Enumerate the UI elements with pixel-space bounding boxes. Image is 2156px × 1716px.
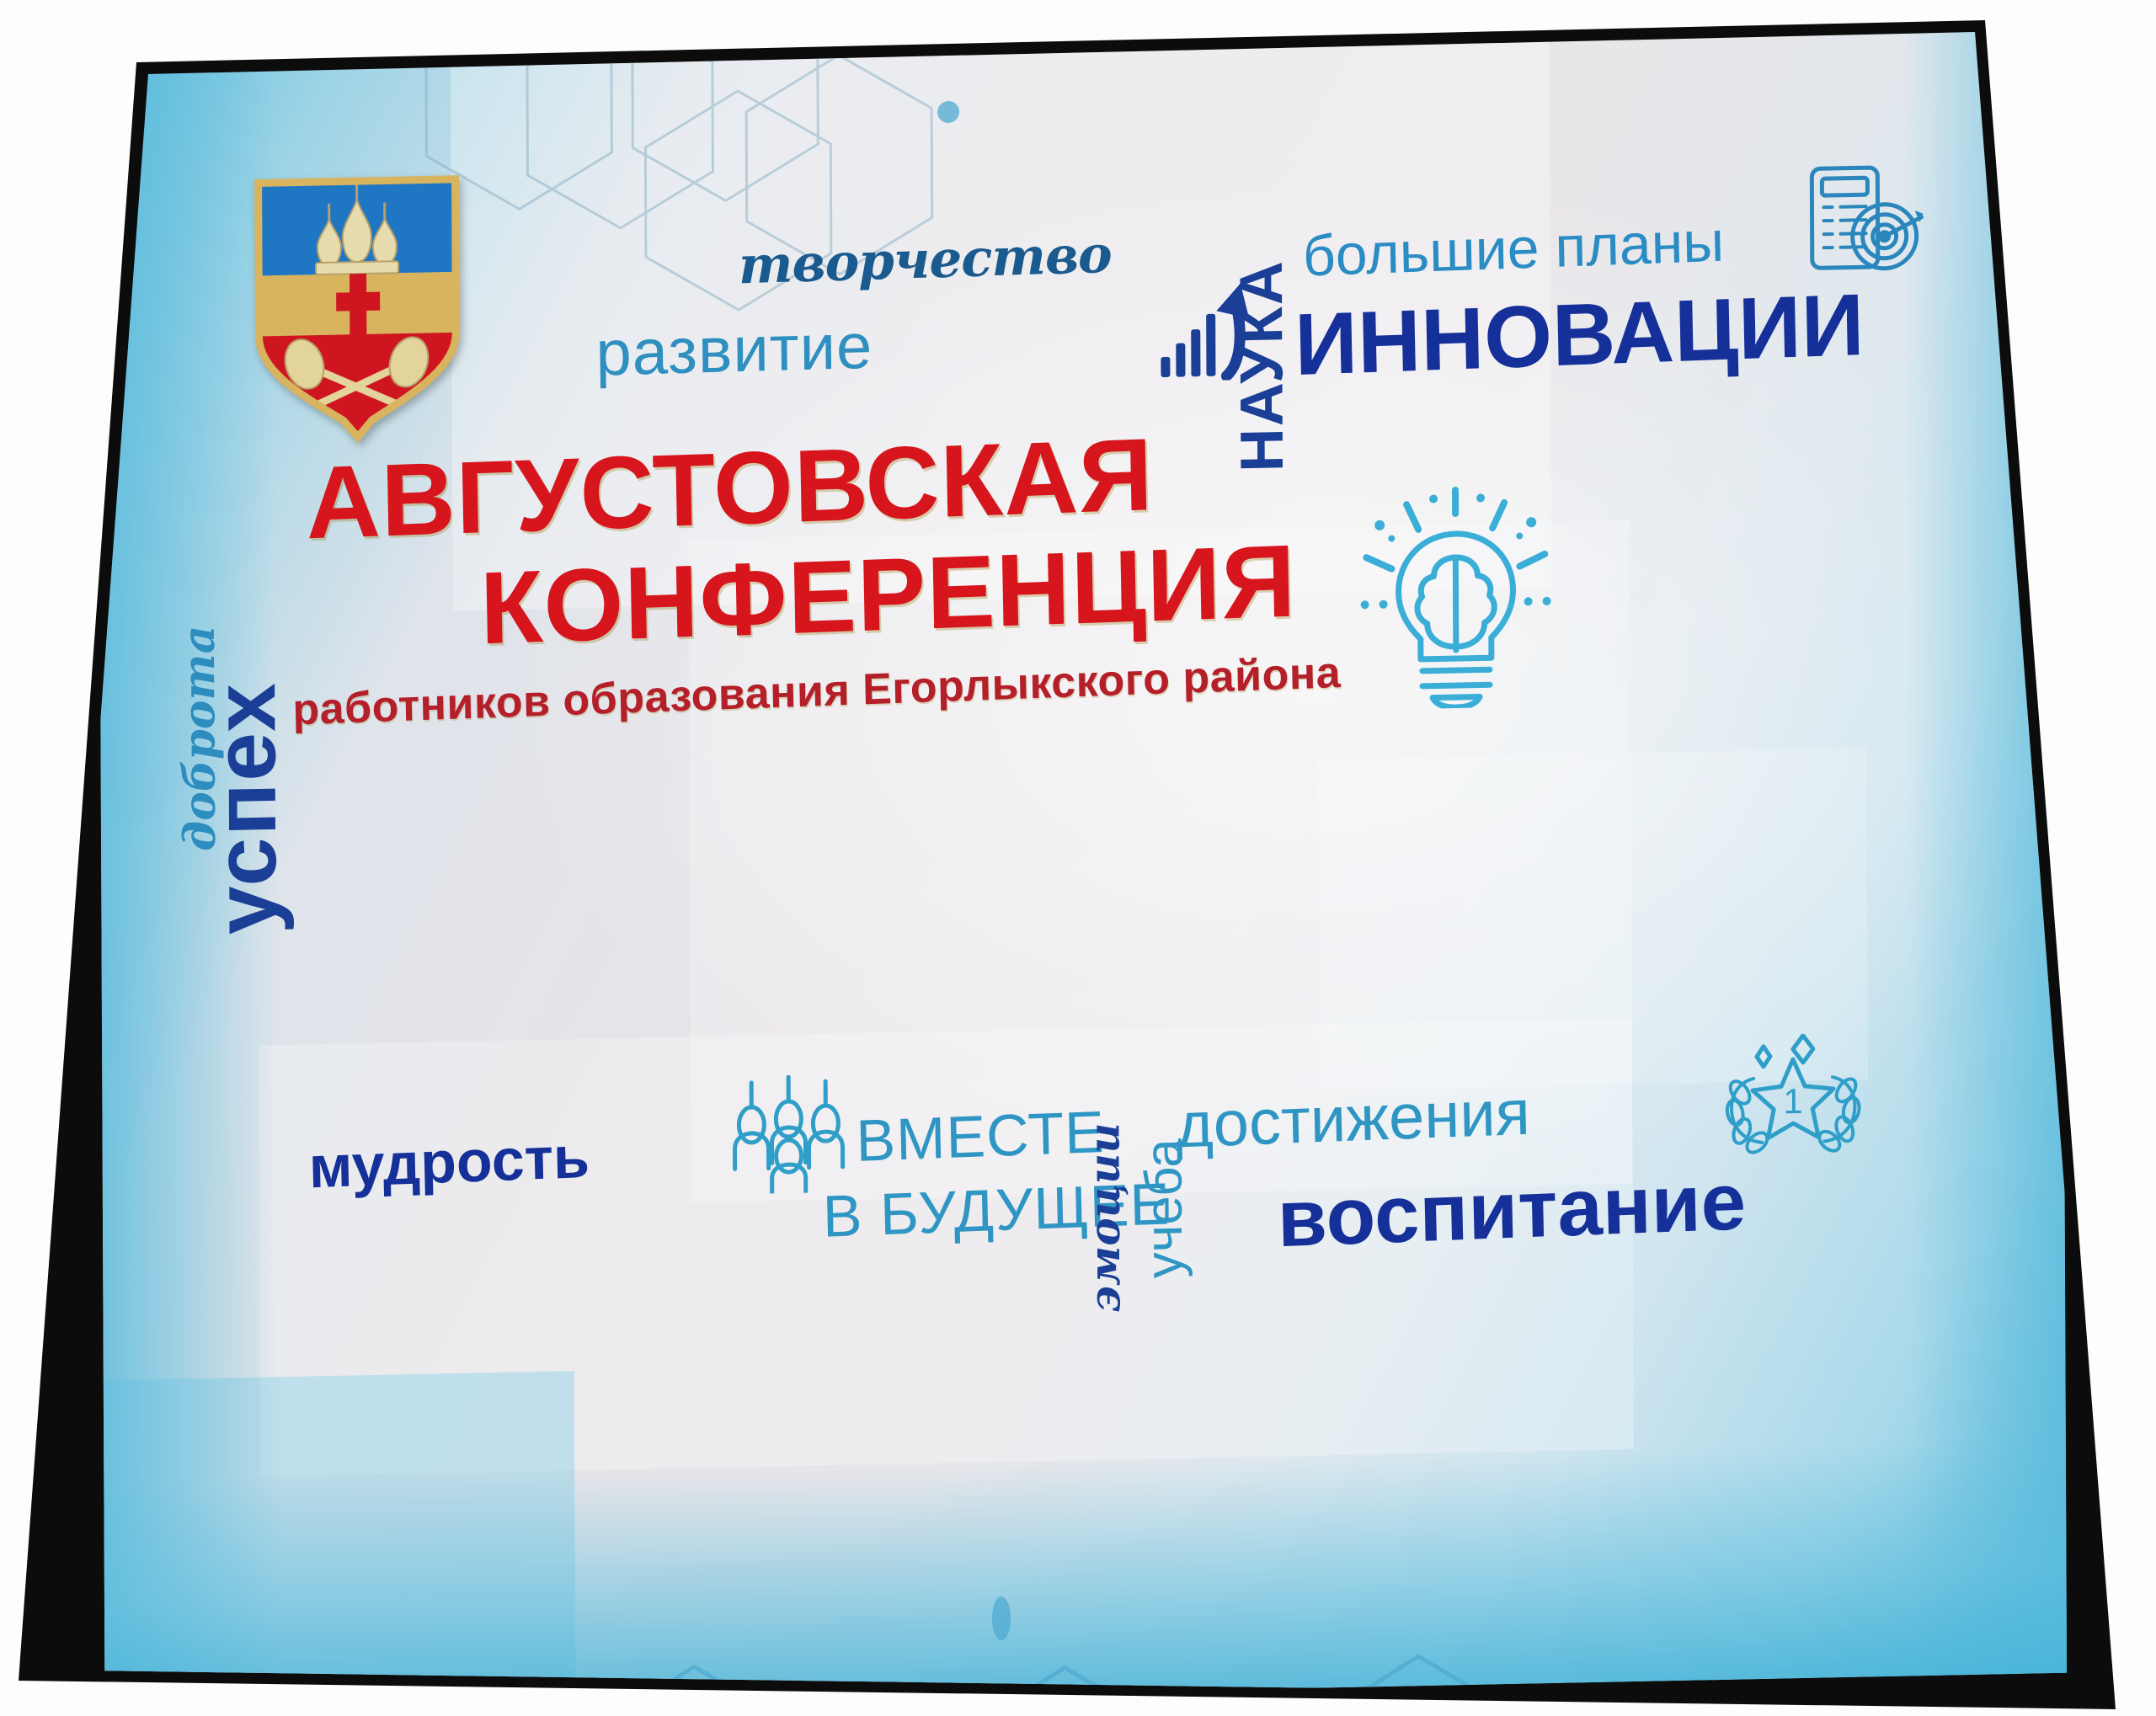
coat-of-arms-icon <box>243 172 472 445</box>
slide-title: АВГУСТОВСКАЯ КОНФЕРЕНЦИЯ <box>300 411 1398 670</box>
keyword-mudrost: мудрость <box>308 1127 590 1196</box>
laurel-star-award-icon: 1 <box>1723 1032 1863 1161</box>
keyword-bolshie-plany: большие планы <box>1302 213 1725 285</box>
keyword-dostizheniya: достижения <box>1176 1081 1531 1159</box>
presentation-slide: творчество развитие НАУКА большие <box>98 14 2067 1713</box>
clipboard-target-icon <box>1803 160 1926 289</box>
bottom-blue-band <box>104 1441 2067 1713</box>
keyword-tvorchestvo: творчество <box>739 229 1113 292</box>
photographed-screen-stage: творчество развитие НАУКА большие <box>0 0 2156 1716</box>
screen-bezel: творчество развитие НАУКА большие <box>0 0 2156 1716</box>
keyword-vmeste: ВМЕСТЕ <box>856 1102 1106 1170</box>
lightbulb-brain-icon <box>1354 483 1557 711</box>
keyword-vospitanie: воспитание <box>1277 1161 1747 1260</box>
screen-surface: творчество развитие НАУКА большие <box>0 0 2156 1716</box>
keyword-innovacii: ИННОВАЦИИ <box>1294 281 1865 389</box>
keyword-razvitie: развитие <box>595 315 873 386</box>
slide-perspective-wrapper: творчество развитие НАУКА большие <box>98 14 2067 1713</box>
keyword-emocii: эмоции <box>1083 1122 1126 1314</box>
people-group-icon <box>729 1074 848 1195</box>
keyword-dobrota: доброта <box>178 625 222 851</box>
award-badge-number: 1 <box>1783 1081 1803 1121</box>
right-blue-band <box>1903 14 2067 1676</box>
